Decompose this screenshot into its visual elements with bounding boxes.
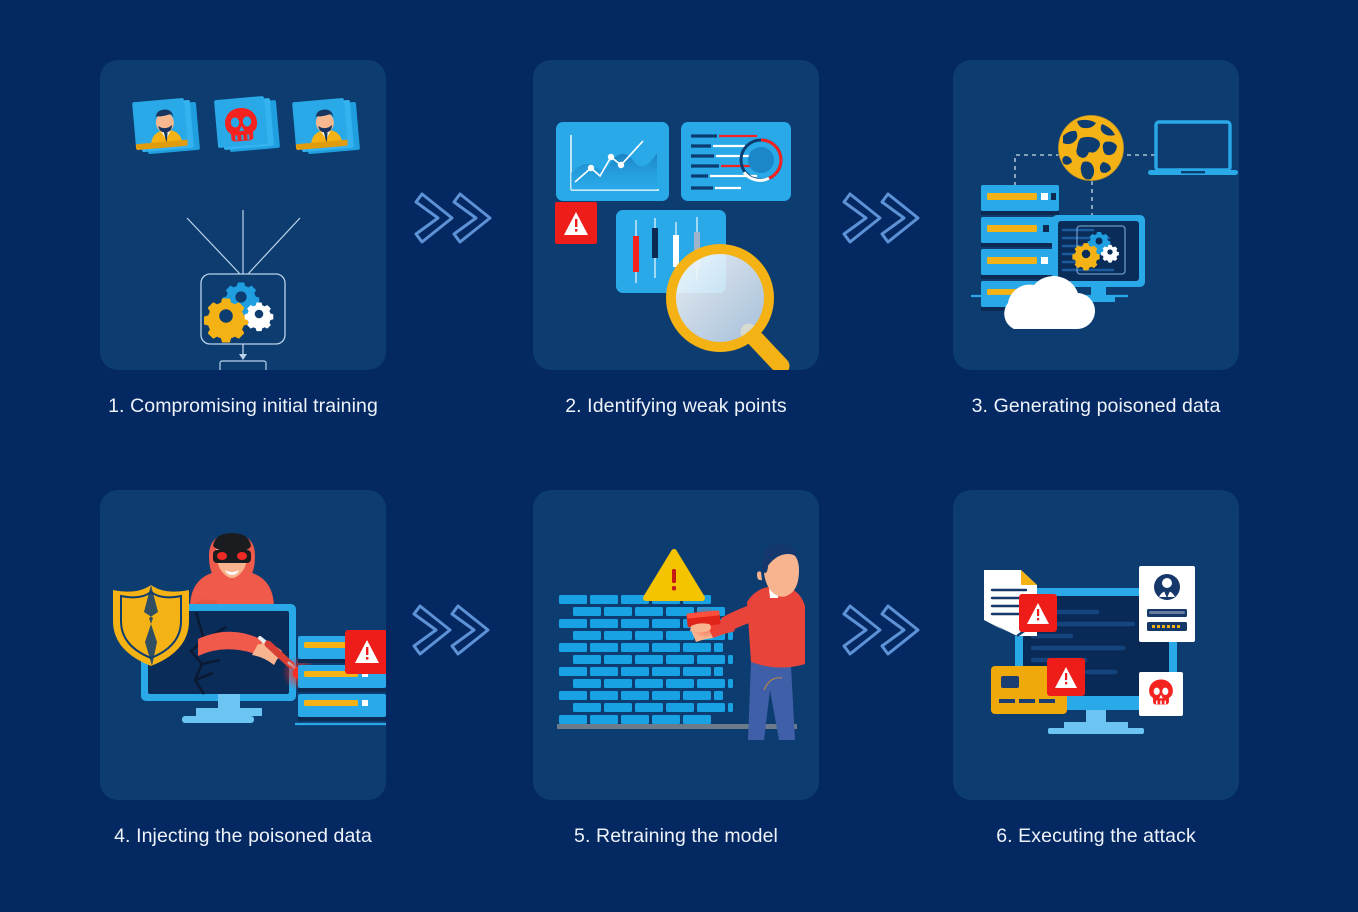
step-6[interactable]: 6. Executing the attack: [953, 490, 1239, 851]
infographic-grid: 1. Compromising initial training: [0, 0, 1358, 912]
image-stack-person-left: [132, 98, 200, 154]
step-1[interactable]: 1. Compromising initial training: [100, 60, 386, 421]
gears-box: [201, 274, 285, 344]
compromising-initial-training-illustration: [100, 60, 386, 370]
warning-badge-card: [1047, 658, 1085, 696]
warning-badge: [555, 202, 597, 244]
retraining-the-model-illustration: [533, 490, 819, 800]
generating-poisoned-data-illustration: [953, 60, 1239, 370]
executing-the-attack-illustration: [953, 490, 1239, 800]
arrow-step2-to-step3: [840, 182, 926, 254]
list-donut-card: [681, 122, 791, 201]
step-5[interactable]: 5. Retraining the model: [533, 490, 819, 851]
warning-badge: [345, 630, 386, 674]
magnifier-icon: [671, 249, 781, 366]
gear-icon-yellow-small: [1072, 243, 1099, 270]
step-5-label: 5. Retraining the model: [533, 822, 819, 851]
step-3-label: 3. Generating poisoned data: [953, 392, 1239, 421]
step-2-label: 2. Identifying weak points: [533, 392, 819, 421]
gear-icon-white-small: [1101, 245, 1119, 263]
injecting-poisoned-data-illustration: [100, 490, 386, 800]
warning-triangle-icon: [646, 552, 702, 598]
identifying-weak-points-illustration: [533, 60, 819, 370]
login-card: [1139, 566, 1195, 642]
gear-icon-white: [245, 303, 274, 332]
avatar-icon: [1154, 574, 1180, 600]
step-4[interactable]: 4. Injecting the poisoned data: [100, 490, 386, 851]
step-3-illustration-card: [953, 60, 1239, 370]
step-2-illustration-card: [533, 60, 819, 370]
step-4-label: 4. Injecting the poisoned data: [100, 822, 386, 851]
skull-card: [1139, 672, 1183, 716]
laptop-icon: [1148, 122, 1238, 175]
globe-icon: [1058, 115, 1124, 181]
image-stack-skull: [214, 96, 280, 152]
line-chart-card: [556, 122, 669, 201]
connector-lines: [187, 210, 300, 274]
step-6-illustration-card: [953, 490, 1239, 800]
gear-icon-yellow: [204, 299, 248, 343]
warning-badge-document: [1019, 594, 1057, 632]
step-1-illustration-card: [100, 60, 386, 370]
step-4-illustration-card: [100, 490, 386, 800]
skull-output-box: [220, 361, 266, 370]
step-3[interactable]: 3. Generating poisoned data: [953, 60, 1239, 421]
image-stack-person-right: [292, 98, 360, 154]
step-6-label: 6. Executing the attack: [953, 822, 1239, 851]
arrowhead: [239, 354, 247, 360]
arrow-step5-to-step6: [840, 594, 926, 666]
arrow-step1-to-step2: [412, 182, 498, 254]
step-5-illustration-card: [533, 490, 819, 800]
step-1-label: 1. Compromising initial training: [100, 392, 386, 421]
step-2[interactable]: 2. Identifying weak points: [533, 60, 819, 421]
arrow-step4-to-step5: [410, 594, 496, 666]
